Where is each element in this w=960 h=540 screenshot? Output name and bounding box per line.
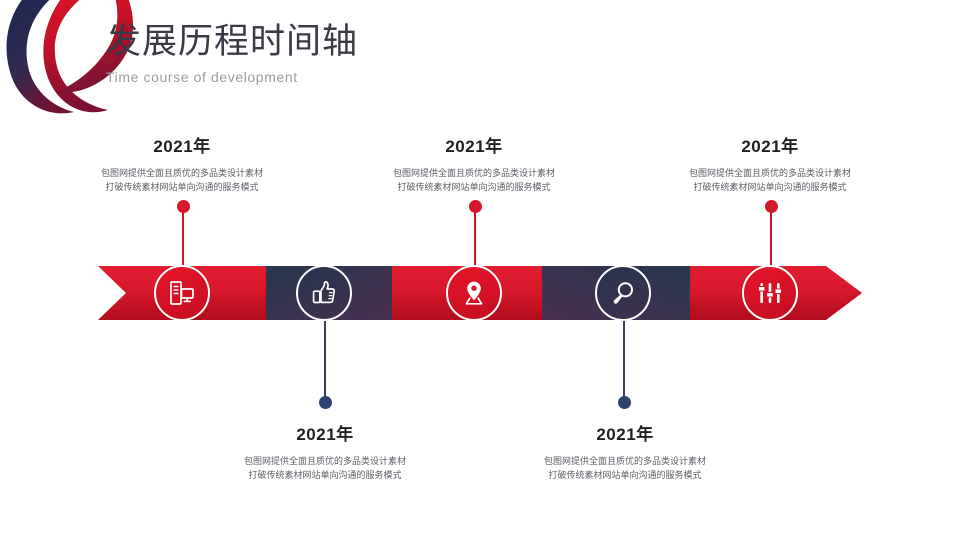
milestone-description: 包图网提供全面且质优的多品类设计素材 打破传统素材网站单向沟通的服务模式 <box>354 166 594 194</box>
connector-dot-5 <box>765 200 778 213</box>
milestone-text-5: 2021年 包图网提供全面且质优的多品类设计素材 打破传统素材网站单向沟通的服务… <box>650 136 890 194</box>
milestone-desc-line2: 打破传统素材网站单向沟通的服务模式 <box>62 180 302 194</box>
milestone-text-1: 2021年 包图网提供全面且质优的多品类设计素材 打破传统素材网站单向沟通的服务… <box>62 136 302 194</box>
header-block: 发展历程时间轴 Time course of development <box>106 20 706 87</box>
milestone-year: 2021年 <box>205 424 445 446</box>
milestone-year: 2021年 <box>505 424 745 446</box>
milestone-desc-line1: 包图网提供全面且质优的多品类设计素材 <box>393 168 555 178</box>
magnifier-icon <box>608 278 638 308</box>
milestone-node-2[interactable] <box>296 265 352 321</box>
map-pin-icon <box>459 278 489 308</box>
milestone-desc-line2: 打破传统素材网站单向沟通的服务模式 <box>650 180 890 194</box>
milestone-description: 包图网提供全面且质优的多品类设计素材 打破传统素材网站单向沟通的服务模式 <box>205 454 445 482</box>
milestone-desc-line2: 打破传统素材网站单向沟通的服务模式 <box>354 180 594 194</box>
connector-dot-2 <box>319 396 332 409</box>
milestone-desc-line1: 包图网提供全面且质优的多品类设计素材 <box>101 168 263 178</box>
milestone-node-5[interactable] <box>742 265 798 321</box>
milestone-desc-line1: 包图网提供全面且质优的多品类设计素材 <box>244 456 406 466</box>
milestone-year: 2021年 <box>650 136 890 158</box>
milestone-desc-line1: 包图网提供全面且质优的多品类设计素材 <box>689 168 851 178</box>
connector-line-4 <box>623 318 625 402</box>
milestone-year: 2021年 <box>354 136 594 158</box>
milestone-year: 2021年 <box>62 136 302 158</box>
connector-line-2 <box>324 318 326 402</box>
milestone-desc-line2: 打破传统素材网站单向沟通的服务模式 <box>205 468 445 482</box>
milestone-description: 包图网提供全面且质优的多品类设计素材 打破传统素材网站单向沟通的服务模式 <box>62 166 302 194</box>
milestone-desc-line2: 打破传统素材网站单向沟通的服务模式 <box>505 468 745 482</box>
thumbs-up-icon <box>309 278 339 308</box>
milestone-node-4[interactable] <box>595 265 651 321</box>
connector-dot-4 <box>618 396 631 409</box>
page-title: 发展历程时间轴 <box>106 20 706 64</box>
server-monitor-icon <box>167 278 197 308</box>
milestone-desc-line1: 包图网提供全面且质优的多品类设计素材 <box>544 456 706 466</box>
milestone-description: 包图网提供全面且质优的多品类设计素材 打破传统素材网站单向沟通的服务模式 <box>650 166 890 194</box>
milestone-node-3[interactable] <box>446 265 502 321</box>
milestone-text-4: 2021年 包图网提供全面且质优的多品类设计素材 打破传统素材网站单向沟通的服务… <box>505 424 745 482</box>
slide-canvas: 发展历程时间轴 Time course of development <box>0 0 960 540</box>
connector-dot-1 <box>177 200 190 213</box>
milestone-description: 包图网提供全面且质优的多品类设计素材 打破传统素材网站单向沟通的服务模式 <box>505 454 745 482</box>
sliders-icon <box>755 278 785 308</box>
milestone-text-3: 2021年 包图网提供全面且质优的多品类设计素材 打破传统素材网站单向沟通的服务… <box>354 136 594 194</box>
milestone-text-2: 2021年 包图网提供全面且质优的多品类设计素材 打破传统素材网站单向沟通的服务… <box>205 424 445 482</box>
connector-dot-3 <box>469 200 482 213</box>
page-subtitle: Time course of development <box>106 67 706 87</box>
milestone-node-1[interactable] <box>154 265 210 321</box>
